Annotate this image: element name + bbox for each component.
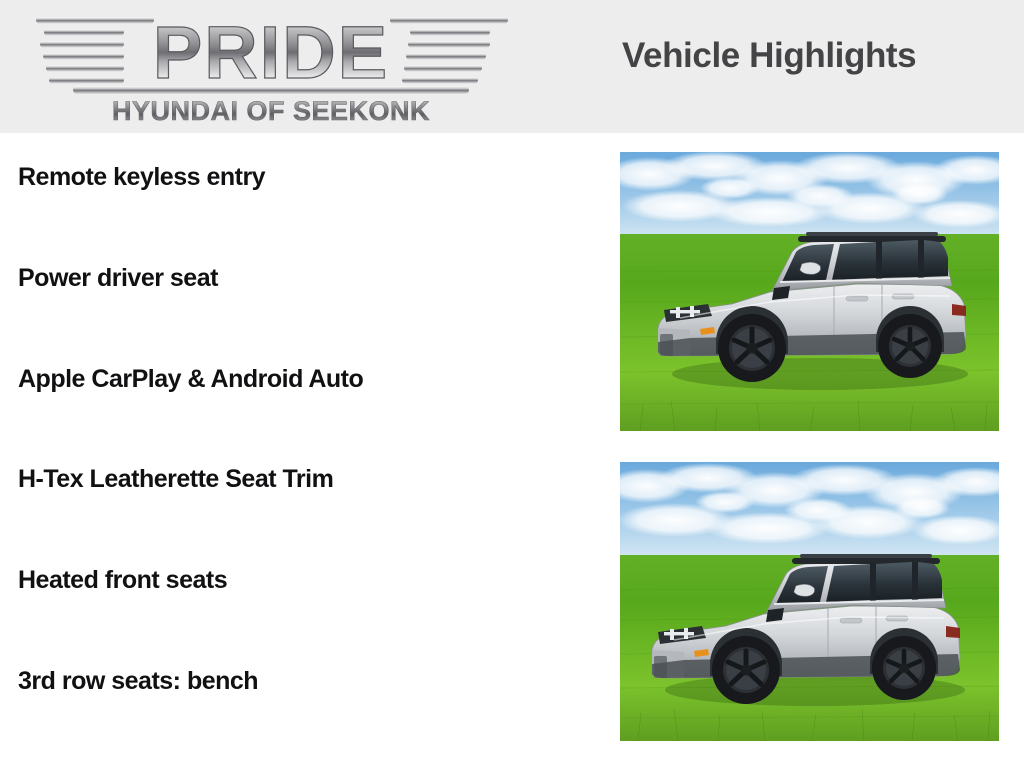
taillight xyxy=(946,626,960,638)
list-item: Remote keyless entry xyxy=(18,163,608,264)
logo-subtitle: HYUNDAI OF SEEKONK xyxy=(112,96,430,126)
logo-wordmark: PRIDE xyxy=(153,11,389,94)
logo-left-wing-icon xyxy=(36,17,154,84)
rear-door-glass xyxy=(876,562,912,600)
list-item: H-Tex Leatherette Seat Trim xyxy=(18,465,608,566)
page-title: Vehicle Highlights xyxy=(622,36,916,76)
door-handle xyxy=(846,296,868,301)
side-mirror xyxy=(800,262,820,274)
front-wheel xyxy=(718,314,786,382)
list-item: 3rd row seats: bench xyxy=(18,667,608,768)
vehicle-photo-1[interactable] xyxy=(620,152,999,431)
rear-door-glass xyxy=(882,240,918,278)
logo-underline-bar xyxy=(73,86,469,94)
rear-wheel xyxy=(878,314,942,378)
door-handle xyxy=(840,618,862,623)
front-wheel xyxy=(712,636,780,704)
vehicle-highlights-list: Remote keyless entry Power driver seat A… xyxy=(18,133,608,768)
pride-hyundai-logo: PRIDE HYUNDAI OF SEEKONK xyxy=(18,6,528,128)
list-item: Apple CarPlay & Android Auto xyxy=(18,365,608,466)
logo-right-wing-icon xyxy=(390,17,508,84)
fender-vent xyxy=(772,286,790,300)
clouds xyxy=(620,463,999,545)
fender-vent xyxy=(766,608,784,622)
list-item: Power driver seat xyxy=(18,264,608,365)
list-item: Heated front seats xyxy=(18,566,608,667)
taillight xyxy=(952,304,966,316)
rear-wheel xyxy=(872,636,936,700)
side-mirror xyxy=(794,584,814,596)
vehicle-photo-2[interactable] xyxy=(620,462,999,741)
